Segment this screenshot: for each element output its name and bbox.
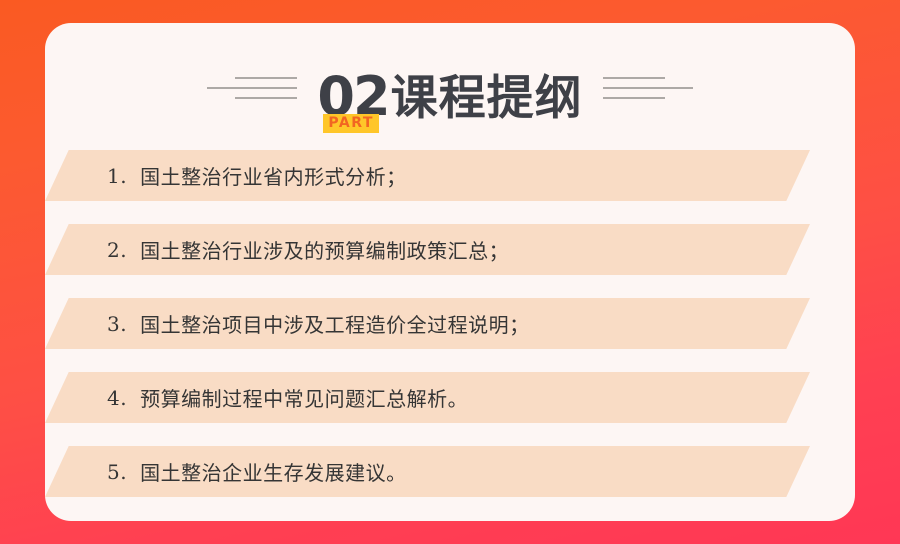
list-item: 4. 预算编制过程中常见问题汇总解析。 bbox=[45, 372, 855, 423]
list-item-label: 国土整治行业涉及的预算编制政策汇总； bbox=[140, 235, 509, 264]
list-item: 5. 国土整治企业生存发展建议。 bbox=[45, 446, 855, 497]
list-item: 1. 国土整治行业省内形式分析； bbox=[45, 150, 855, 201]
list-item-label: 预算编制过程中常见问题汇总解析。 bbox=[140, 383, 468, 412]
divider-line-middle bbox=[207, 87, 297, 89]
list-item-content: 1. 国土整治行业省内形式分析； bbox=[107, 150, 407, 201]
divider-left bbox=[209, 71, 301, 105]
list-item-number: 5. bbox=[107, 460, 127, 484]
list-item: 2. 国土整治行业涉及的预算编制政策汇总； bbox=[45, 224, 855, 275]
list-item-content: 3. 国土整治项目中涉及工程造价全过程说明； bbox=[107, 298, 530, 349]
title-block: 02 PART 课程提纲 bbox=[301, 52, 598, 124]
list-item-number: 4. bbox=[107, 386, 127, 410]
part-badge: PART bbox=[323, 114, 379, 133]
section-header: 02 PART 课程提纲 bbox=[45, 45, 855, 131]
list-item-number: 2. bbox=[107, 238, 127, 262]
outline-list: 1. 国土整治行业省内形式分析； 2. 国土整治行业涉及的预算编制政策汇总； 3… bbox=[45, 150, 855, 520]
divider-line-bottom bbox=[235, 97, 297, 99]
divider-line-middle bbox=[603, 87, 693, 89]
content-card: 02 PART 课程提纲 1. 国土整治行业省内形式分析； bbox=[45, 23, 855, 521]
list-item-label: 国土整治企业生存发展建议。 bbox=[140, 457, 407, 486]
page-title: 课程提纲 bbox=[391, 74, 583, 124]
list-item-content: 5. 国土整治企业生存发展建议。 bbox=[107, 446, 407, 497]
divider-right bbox=[599, 71, 691, 105]
list-item-label: 国土整治项目中涉及工程造价全过程说明； bbox=[140, 309, 530, 338]
divider-line-bottom bbox=[603, 97, 665, 99]
slide-root: 02 PART 课程提纲 1. 国土整治行业省内形式分析； bbox=[0, 0, 900, 544]
list-item-content: 4. 预算编制过程中常见问题汇总解析。 bbox=[107, 372, 468, 423]
list-item-label: 国土整治行业省内形式分析； bbox=[140, 161, 407, 190]
list-item-content: 2. 国土整治行业涉及的预算编制政策汇总； bbox=[107, 224, 509, 275]
list-item: 3. 国土整治项目中涉及工程造价全过程说明； bbox=[45, 298, 855, 349]
divider-line-top bbox=[235, 77, 297, 79]
list-item-number: 1. bbox=[107, 164, 127, 188]
list-item-number: 3. bbox=[107, 312, 127, 336]
divider-line-top bbox=[603, 77, 665, 79]
part-number-group: 02 PART bbox=[317, 72, 388, 124]
